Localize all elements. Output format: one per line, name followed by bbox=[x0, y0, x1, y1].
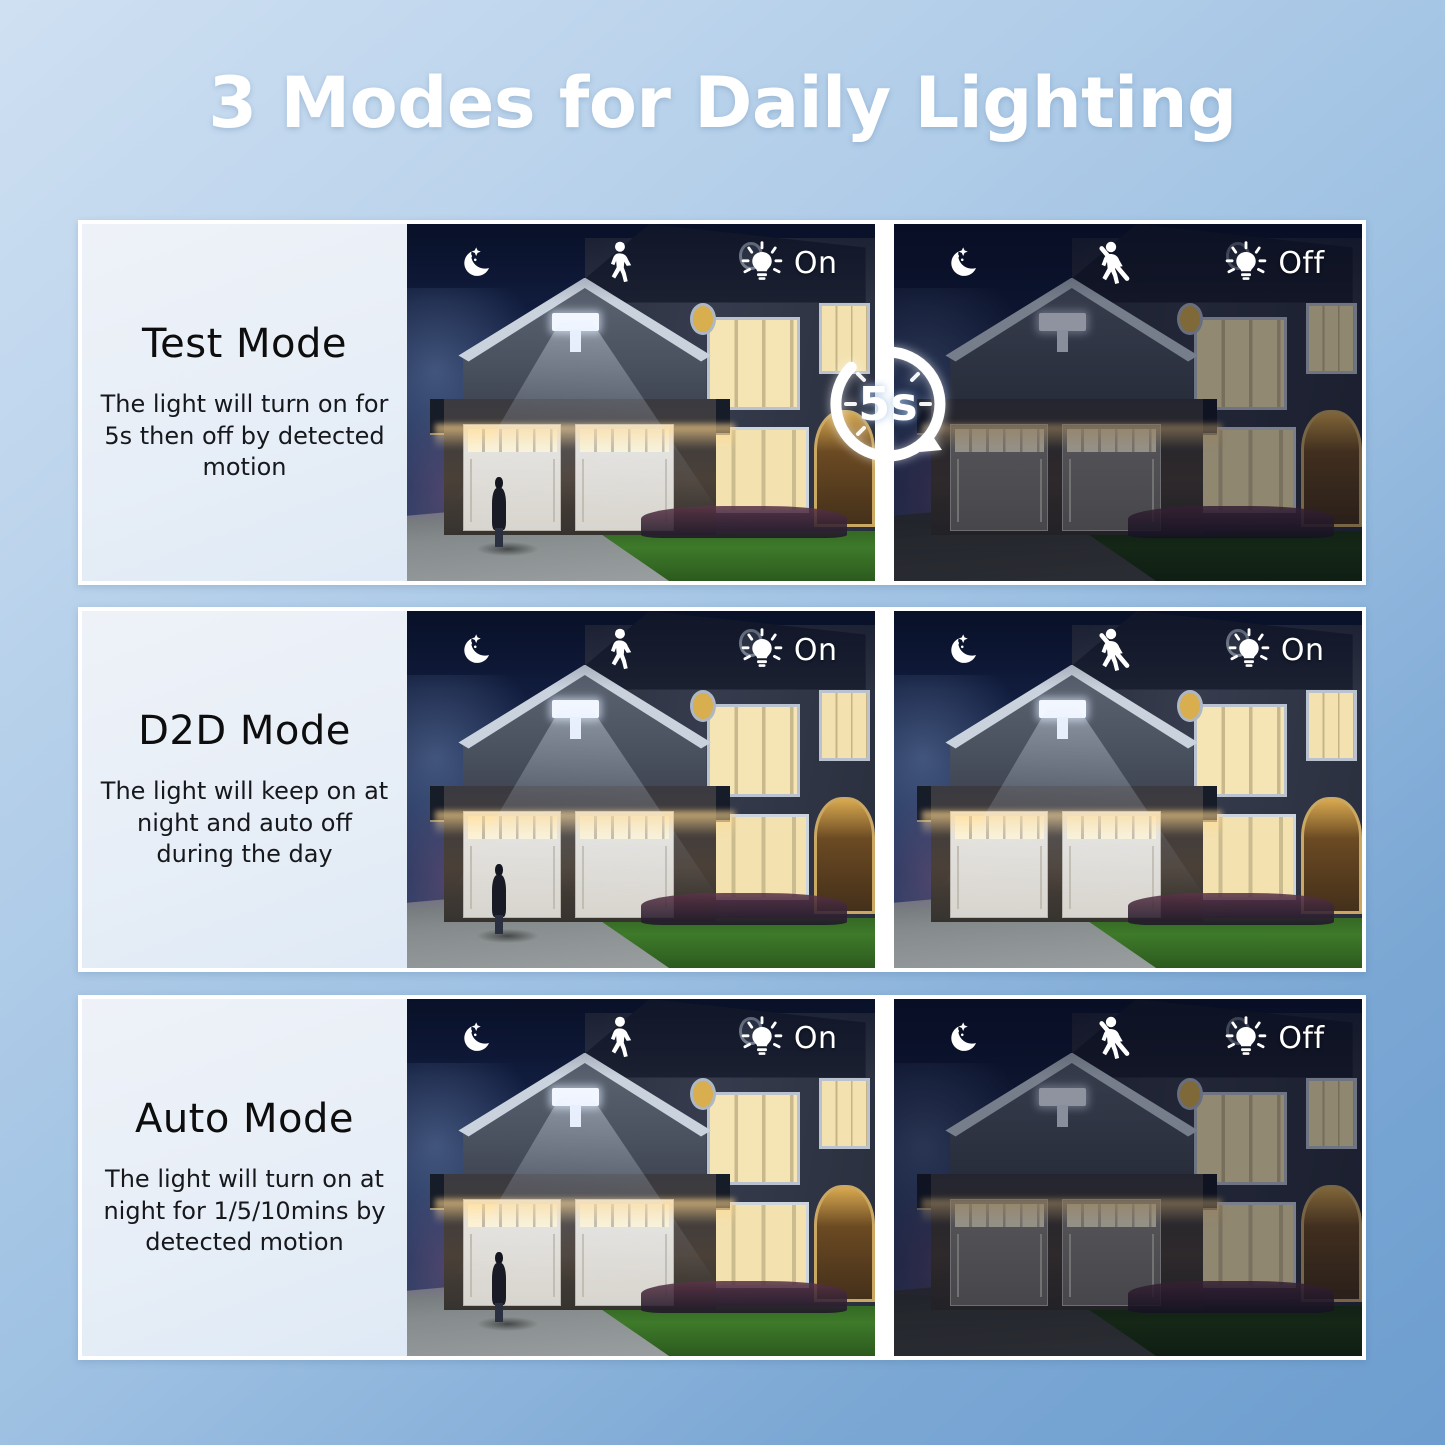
page-title: 3 Modes for Daily Lighting bbox=[0, 62, 1445, 144]
upper-window bbox=[707, 704, 801, 797]
lamp-state-label: Off bbox=[1278, 1021, 1324, 1056]
person-shadow bbox=[477, 1317, 538, 1331]
mode-text-pane: D2D Mode The light will keep on at night… bbox=[82, 611, 407, 968]
upper-right-window bbox=[819, 690, 870, 761]
upper-window bbox=[707, 1092, 801, 1185]
night-status bbox=[943, 1016, 987, 1060]
mode-photos: On bbox=[407, 999, 1362, 1356]
moon-stars-icon bbox=[943, 628, 987, 672]
motion-status bbox=[599, 627, 639, 673]
upper-window bbox=[1194, 704, 1288, 797]
person-body bbox=[492, 488, 506, 530]
status-icon-bar: Off bbox=[894, 224, 1362, 302]
upper-right-window bbox=[819, 1078, 870, 1149]
scene-photo-left: On bbox=[407, 611, 875, 968]
upper-right-window bbox=[1306, 690, 1357, 761]
walking-person-figure bbox=[491, 864, 507, 932]
mode-text-pane: Test Mode The light will turn on for 5s … bbox=[82, 224, 407, 581]
scene-photo-right: On bbox=[894, 611, 1362, 968]
night-status bbox=[943, 241, 987, 285]
walking-person-slash-icon bbox=[1086, 626, 1138, 674]
lamp-state-label: On bbox=[1281, 633, 1325, 668]
mode-description: The light will keep on at night and auto… bbox=[96, 776, 393, 871]
night-status bbox=[943, 628, 987, 672]
motion-status bbox=[1086, 239, 1138, 287]
mode-text-pane: Auto Mode The light will turn on at nigh… bbox=[82, 999, 407, 1356]
moon-stars-icon bbox=[943, 1016, 987, 1060]
light-bulb-icon bbox=[1227, 628, 1271, 672]
lamp-state-label: On bbox=[794, 1021, 838, 1056]
walking-person-icon bbox=[599, 627, 639, 673]
lamp-status: On bbox=[740, 628, 838, 672]
status-icon-bar: On bbox=[407, 611, 875, 689]
person-legs bbox=[495, 915, 503, 934]
status-icon-bar: On bbox=[407, 224, 875, 302]
motion-status bbox=[599, 1015, 639, 1061]
status-icon-bar: On bbox=[894, 611, 1362, 689]
person-shadow bbox=[477, 929, 538, 943]
moon-stars-icon bbox=[456, 241, 500, 285]
light-bulb-icon bbox=[740, 1016, 784, 1060]
lamp-status: On bbox=[740, 241, 838, 285]
lamp-state-label: Off bbox=[1278, 246, 1324, 281]
walking-person-figure bbox=[491, 1252, 507, 1320]
person-body bbox=[492, 875, 506, 917]
walking-person-icon bbox=[599, 240, 639, 286]
walking-person-figure bbox=[491, 477, 507, 545]
moon-stars-icon bbox=[943, 241, 987, 285]
person-legs bbox=[495, 528, 503, 547]
round-window bbox=[690, 303, 716, 335]
person-legs bbox=[495, 1303, 503, 1322]
lamp-status: On bbox=[740, 1016, 838, 1060]
person-body bbox=[492, 1263, 506, 1305]
night-status bbox=[456, 1016, 500, 1060]
person-head bbox=[495, 477, 502, 489]
mode-row: Test Mode The light will turn on for 5s … bbox=[78, 220, 1366, 585]
round-window bbox=[1177, 690, 1203, 722]
light-bulb-icon bbox=[740, 628, 784, 672]
scene-photo-right: Off bbox=[894, 224, 1362, 581]
lamp-status: Off bbox=[1224, 241, 1324, 285]
status-icon-bar: On bbox=[407, 999, 875, 1077]
mode-title: D2D Mode bbox=[138, 708, 351, 754]
lamp-state-label: On bbox=[794, 633, 838, 668]
person-head bbox=[495, 864, 502, 876]
status-icon-bar: Off bbox=[894, 999, 1362, 1077]
mode-row: Auto Mode The light will turn on at nigh… bbox=[78, 995, 1366, 1360]
lamp-status: On bbox=[1227, 628, 1325, 672]
timer-badge-label: 5s bbox=[858, 377, 917, 431]
mode-description: The light will turn on at night for 1/5/… bbox=[96, 1164, 393, 1259]
night-status bbox=[456, 241, 500, 285]
upper-window bbox=[707, 317, 801, 410]
person-head bbox=[495, 1252, 502, 1264]
mode-photos: On bbox=[407, 611, 1362, 968]
person-shadow bbox=[477, 542, 538, 556]
round-window bbox=[690, 1078, 716, 1110]
mode-description: The light will turn on for 5s then off b… bbox=[96, 389, 393, 484]
mode-title: Test Mode bbox=[142, 321, 347, 367]
mode-row: D2D Mode The light will keep on at night… bbox=[78, 607, 1366, 972]
moon-stars-icon bbox=[456, 1016, 500, 1060]
lamp-status: Off bbox=[1224, 1016, 1324, 1060]
light-bulb-icon bbox=[740, 241, 784, 285]
scene-photo-right: Off bbox=[894, 999, 1362, 1356]
scene-photo-left: On bbox=[407, 224, 875, 581]
round-window bbox=[690, 690, 716, 722]
walking-person-slash-icon bbox=[1086, 239, 1138, 287]
moon-stars-icon bbox=[456, 628, 500, 672]
scene-photo-left: On bbox=[407, 999, 875, 1356]
night-status bbox=[456, 628, 500, 672]
mode-title: Auto Mode bbox=[135, 1096, 354, 1142]
timer-badge-5s: 5s bbox=[822, 338, 954, 470]
walking-person-icon bbox=[599, 1015, 639, 1061]
light-bulb-icon bbox=[1224, 241, 1268, 285]
light-bulb-icon bbox=[1224, 1016, 1268, 1060]
motion-status bbox=[1086, 626, 1138, 674]
motion-status bbox=[1086, 1014, 1138, 1062]
lamp-state-label: On bbox=[794, 246, 838, 281]
walking-person-slash-icon bbox=[1086, 1014, 1138, 1062]
motion-status bbox=[599, 240, 639, 286]
